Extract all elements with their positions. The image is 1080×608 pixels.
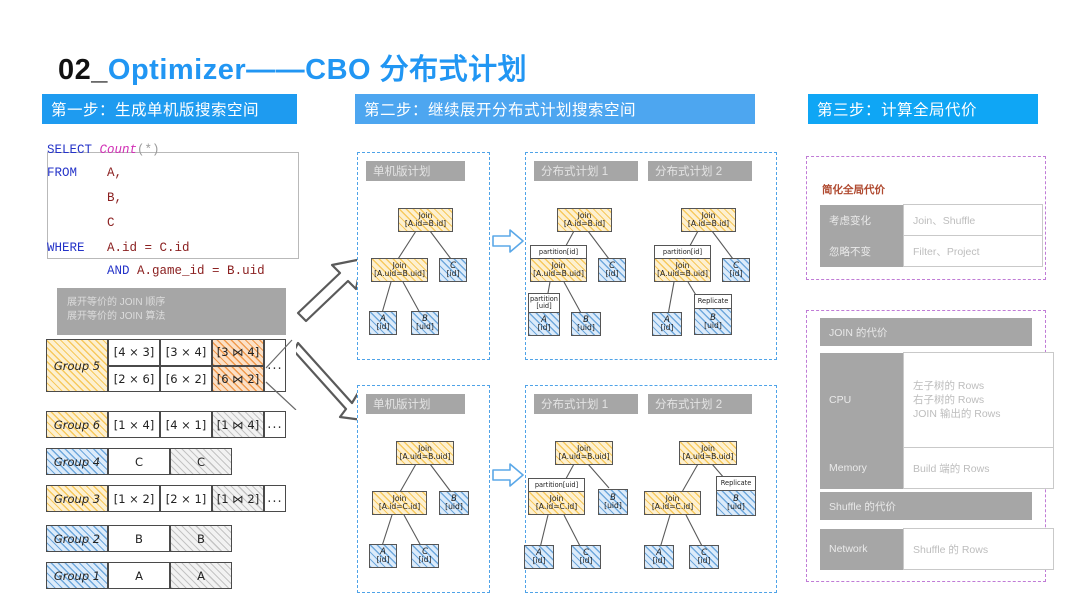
- node-line2: [uid]: [445, 503, 463, 511]
- group-cell: [1 ⋈ 2]: [212, 485, 264, 512]
- node-line2: [A.id=B.id]: [564, 220, 605, 228]
- tree-cap-replicate: Replicate: [716, 476, 756, 490]
- group-row-2: Group 2 B B: [46, 525, 232, 552]
- tree-node-leaf-a: A [id]: [524, 545, 554, 569]
- node-line2: [A.uid=B.uid]: [683, 453, 734, 461]
- node-line2: [uid]: [704, 322, 722, 330]
- tree-node-leaf-c: C [id]: [689, 545, 719, 569]
- expand-arrow-up-icon: [296, 255, 366, 325]
- cost-value: Filter、Project: [904, 236, 1043, 267]
- simplified-cost-table: 考虑变化 Join、Shuffle 忽略不变 Filter、Project: [820, 204, 1043, 267]
- tree-node-leaf-c: C [id]: [571, 545, 601, 569]
- table-row: 忽略不变 Filter、Project: [820, 236, 1043, 267]
- tree-node-inner: Join [A.id=C.id]: [528, 491, 585, 515]
- group-ellipsis: ...: [264, 411, 286, 438]
- tree-node-root: Join [A.uid=B.uid]: [396, 441, 454, 465]
- node-line2: [id]: [661, 324, 674, 332]
- step-header-2: 第二步：继续展开分布式计划搜索空间: [355, 94, 755, 124]
- sql-predicate-1: A.id = C.id: [107, 241, 190, 255]
- node-line2: [id]: [377, 323, 390, 331]
- node-line2: [uid]: [727, 503, 745, 511]
- tree-node-inner: Join [A.uid=B.uid]: [371, 258, 428, 282]
- tree-node-leaf-c: C [id]: [598, 258, 626, 282]
- transform-arrow-top-icon: [492, 228, 524, 254]
- table-row: Memory Build 端的 Rows: [820, 448, 1054, 489]
- group-label-5: Group 5: [46, 339, 108, 392]
- node-line2: [uid]: [604, 502, 622, 510]
- group-cell: [6 ⋈ 2]: [212, 366, 264, 393]
- node-line2: [id]: [447, 270, 460, 278]
- group-label-4: Group 4: [46, 448, 108, 475]
- node-line2: [A.id=C.id]: [652, 503, 693, 511]
- tree-node-root: Join [A.uid=B.uid]: [555, 441, 613, 465]
- sql-keyword-and: AND: [107, 264, 130, 278]
- tree-node-inner: Join [A.uid=B.uid]: [654, 258, 711, 282]
- group-cell: [1 ⋈ 4]: [212, 411, 264, 438]
- node-line2: [A.uid=B.uid]: [533, 270, 584, 278]
- group-cell: [2 × 1]: [160, 485, 212, 512]
- transform-arrow-bottom-icon: [492, 462, 524, 488]
- sql-keyword-where: WHERE: [47, 241, 85, 255]
- sql-line-select: SELECT Count(*): [47, 144, 160, 157]
- node-line2: [A.id=C.id]: [379, 503, 420, 511]
- cost-key: 忽略不变: [820, 236, 904, 267]
- shuffle-cost-table: Network Shuffle 的 Rows: [820, 528, 1054, 570]
- page-title-prefix: 02_: [58, 54, 108, 86]
- tree-node-leaf-a: A [id]: [644, 545, 674, 569]
- group-row-4: Group 4 C C: [46, 448, 232, 475]
- tree-node-inner: Join [A.uid=B.uid]: [530, 258, 587, 282]
- group-cell: C: [108, 448, 170, 475]
- node-line2: [A.uid=B.uid]: [657, 270, 708, 278]
- tree-node-root: Join [A.id=B.id]: [681, 208, 736, 232]
- distributed-plans-panel-top: 分布式计划 1 分布式计划 2 Join [A.id=B.id] partiti…: [525, 152, 777, 360]
- group-connector-lines: [262, 330, 312, 410]
- node-line2: [A.id=C.id]: [536, 503, 577, 511]
- step-header-3: 第三步：计算全局代价: [808, 94, 1038, 124]
- join-cost-header: JOIN 的代价: [820, 318, 1032, 346]
- node-line2: [id]: [419, 556, 432, 564]
- sql-table-a: A,: [107, 166, 122, 180]
- group-cell: C: [170, 448, 232, 475]
- cost-key: 考虑变化: [820, 205, 904, 236]
- tree-cap-partition-uid: partition [uid]: [528, 293, 560, 312]
- table-row: CPU 左子树的 Rows 右子树的 Rows JOIN 输出的 Rows: [820, 353, 1054, 448]
- group-ellipsis: ...: [264, 485, 286, 512]
- tree-node-inner: Join [A.id=C.id]: [644, 491, 701, 515]
- node-line2: [id]: [730, 270, 743, 278]
- sql-line-c: C: [47, 217, 115, 230]
- node-line2: [id]: [377, 556, 390, 564]
- group-cell: [4 × 1]: [160, 411, 212, 438]
- tree-node-leaf-c: C [id]: [439, 258, 467, 282]
- group-cell: [1 × 4]: [108, 411, 160, 438]
- group-cell: [2 × 6]: [108, 366, 160, 393]
- tree-node-leaf-c: C [id]: [722, 258, 750, 282]
- cost-value: 左子树的 Rows 右子树的 Rows JOIN 输出的 Rows: [904, 353, 1054, 448]
- group-cell: A: [108, 562, 170, 589]
- group-cell: [4 × 3]: [108, 339, 160, 366]
- tree-node-leaf-b: B [uid]: [411, 311, 439, 335]
- group-cell: B: [170, 525, 232, 552]
- tree-node-root: Join [A.id=B.id]: [557, 208, 612, 232]
- tree-cap-replicate: Replicate: [694, 294, 732, 308]
- node-line2: [id]: [580, 557, 593, 565]
- tree-node-inner: Join [A.id=C.id]: [372, 491, 427, 515]
- group-row-3: Group 3 [1 × 2] [2 × 1] [1 ⋈ 2] ...: [46, 485, 286, 512]
- group-label-3: Group 3: [46, 485, 108, 512]
- node-line2: [A.uid=B.uid]: [374, 270, 425, 278]
- tree-cap-partition: partition[id]: [530, 245, 587, 258]
- cost-value: Join、Shuffle: [904, 205, 1043, 236]
- tree-node-leaf-b: B [uid]: [598, 489, 628, 515]
- sql-star: (*): [137, 143, 160, 157]
- node-line2: [A.uid=B.uid]: [559, 453, 610, 461]
- expand-note-line-2: 展开等价的 JOIN 算法: [67, 310, 286, 324]
- simplified-cost-title: 简化全局代价: [822, 182, 885, 197]
- group-cell: [6 × 2]: [160, 366, 212, 393]
- table-row: 考虑变化 Join、Shuffle: [820, 205, 1043, 236]
- group-cell: [1 × 2]: [108, 485, 160, 512]
- tree-node-leaf-a: A [id]: [369, 544, 397, 568]
- expand-note-line-1: 展开等价的 JOIN 顺序: [67, 296, 286, 310]
- group-row-5: Group 5 [4 × 3] [2 × 6] [3 × 4] [6 × 2] …: [46, 339, 286, 392]
- node-line2: [A.id=B.id]: [688, 220, 729, 228]
- cost-key: CPU: [820, 353, 904, 448]
- tree-node-leaf-a: A [id]: [528, 312, 560, 336]
- tree-node-leaf-c: C [id]: [411, 544, 439, 568]
- node-line2: [A.uid=B.uid]: [400, 453, 451, 461]
- sql-line-from: FROM A,: [47, 167, 122, 180]
- tree-node-leaf-a: A [id]: [652, 312, 682, 336]
- single-plan-panel-top: 单机版计划 Join [A.id=B.id] Join [A.uid=B.uid…: [357, 152, 490, 360]
- tree-node-leaf-b: B [uid]: [571, 312, 601, 336]
- group-cell: [3 ⋈ 4]: [212, 339, 264, 366]
- cost-key: Network: [820, 529, 904, 570]
- node-line2: [id]: [533, 557, 546, 565]
- node-line2: [id]: [698, 557, 711, 565]
- sql-table-c: C: [107, 216, 115, 230]
- sql-function-count: Count: [100, 143, 138, 157]
- shuffle-cost-header: Shuffle 的代价: [820, 492, 1032, 520]
- join-cost-table: CPU 左子树的 Rows 右子树的 Rows JOIN 输出的 Rows Me…: [820, 352, 1054, 489]
- step-header-1: 第一步：生成单机版搜索空间: [42, 94, 297, 124]
- tree-cap-partition: partition[uid]: [528, 478, 585, 491]
- page-title: 02_Optimizer——CBO 分布式计划: [58, 46, 527, 88]
- group-label-1: Group 1: [46, 562, 108, 589]
- sql-line-where: WHERE A.id = C.id: [47, 242, 190, 255]
- sql-predicate-2: A.game_id = B.uid: [137, 264, 265, 278]
- group-cell: [3 × 4]: [160, 339, 212, 366]
- tree-cap-partition: partition[id]: [654, 245, 711, 258]
- node-line2: [uid]: [577, 324, 595, 332]
- distributed-plans-panel-bottom: 分布式计划 1 分布式计划 2 Join [A.uid=B.uid] parti…: [525, 385, 777, 593]
- tree-node-root: Join [A.uid=B.uid]: [679, 441, 737, 465]
- tree-node-leaf-b: B [uid]: [694, 308, 732, 335]
- group-label-6: Group 6: [46, 411, 108, 438]
- tree-node-leaf-b: B [uid]: [439, 491, 469, 515]
- sql-line-b: B,: [47, 192, 122, 205]
- group-row-6: Group 6 [1 × 4] [4 × 1] [1 ⋈ 4] ...: [46, 411, 286, 438]
- node-line2: [uid]: [416, 323, 434, 331]
- group-label-2: Group 2: [46, 525, 108, 552]
- tree-node-leaf-a: A [id]: [369, 311, 397, 335]
- sql-keyword-from: FROM: [47, 166, 77, 180]
- sql-table-b: B,: [107, 191, 122, 205]
- tree-node-leaf-b: B [uid]: [716, 490, 756, 516]
- group-cell: B: [108, 525, 170, 552]
- group-cell: A: [170, 562, 232, 589]
- group-row-1: Group 1 A A: [46, 562, 232, 589]
- cost-value: Build 端的 Rows: [904, 448, 1054, 489]
- cost-value: Shuffle 的 Rows: [904, 529, 1054, 570]
- cost-key: Memory: [820, 448, 904, 489]
- node-line2: [A.id=B.id]: [405, 220, 446, 228]
- sql-line-and: AND A.game_id = B.uid: [47, 265, 265, 278]
- expand-note-box: 展开等价的 JOIN 顺序 展开等价的 JOIN 算法: [57, 288, 286, 335]
- node-line2: [id]: [538, 324, 551, 332]
- node-line2: [id]: [653, 557, 666, 565]
- node-line2: [id]: [606, 270, 619, 278]
- table-row: Network Shuffle 的 Rows: [820, 529, 1054, 570]
- tree-node-root: Join [A.id=B.id]: [398, 208, 453, 232]
- single-plan-panel-bottom: 单机版计划 Join [A.uid=B.uid] Join [A.id=C.id…: [357, 385, 490, 593]
- sql-keyword-select: SELECT: [47, 143, 92, 157]
- page-title-main: Optimizer——CBO 分布式计划: [108, 54, 527, 86]
